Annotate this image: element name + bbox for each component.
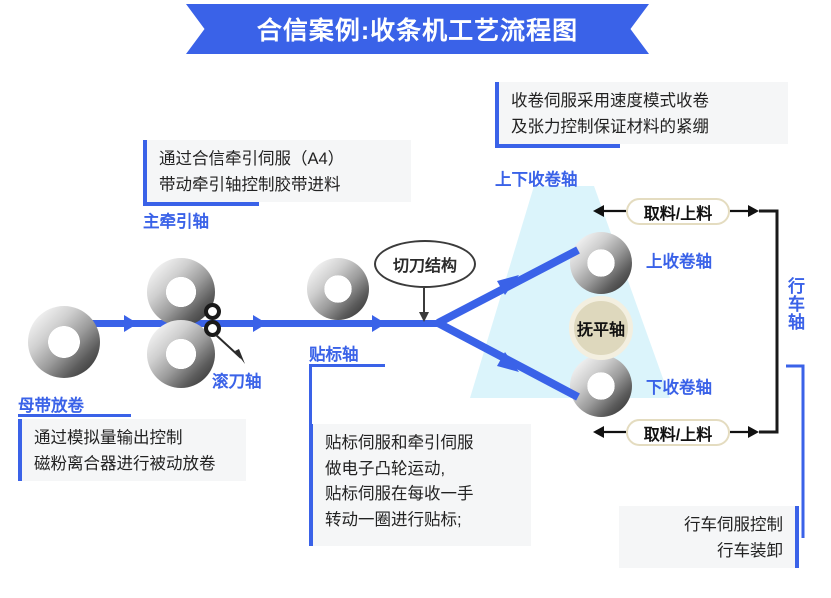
branch-lines	[438, 250, 578, 397]
label-upper-rewind-shaft: 上收卷轴	[646, 248, 712, 272]
label-shaft-connector	[309, 364, 312, 424]
label-mother-unwind: 母带放卷	[18, 392, 84, 416]
right-arrow-icon	[730, 426, 759, 438]
note-crane-servo: 行车伺服控制 行车装卸	[619, 506, 799, 568]
left-arrow-icon	[593, 426, 626, 438]
note-mother-unwind: 通过模拟量输出控制 磁粉离合器进行被动放卷	[18, 419, 246, 481]
left-arrow-icon	[593, 205, 626, 217]
mother-unwind-underline	[18, 414, 131, 417]
label-travel-shaft: 行车轴	[784, 277, 804, 331]
flow-arrow-icon	[124, 315, 386, 332]
label-label-shaft: 贴标轴	[309, 341, 359, 365]
note-label-servo: 贴标伺服和牵引伺服 做电子凸轮运动, 贴标伺服在每收一手 转动一圈进行贴标;	[309, 424, 531, 546]
diagram-canvas: 合信案例:收条机工艺流程图 通过合信牵引伺服（A4） 带动牵引轴控制胶带进料 主…	[0, 0, 831, 598]
label-shaft-underline	[309, 364, 385, 367]
pointer-arrow-icon	[216, 335, 245, 364]
down-arrow-icon	[419, 288, 429, 322]
label-lower-rewind-shaft: 下收卷轴	[646, 374, 712, 398]
right-arrow-icon	[730, 205, 759, 217]
travel-rail	[759, 211, 777, 432]
label-cutter-shaft: 滚刀轴	[212, 368, 262, 392]
